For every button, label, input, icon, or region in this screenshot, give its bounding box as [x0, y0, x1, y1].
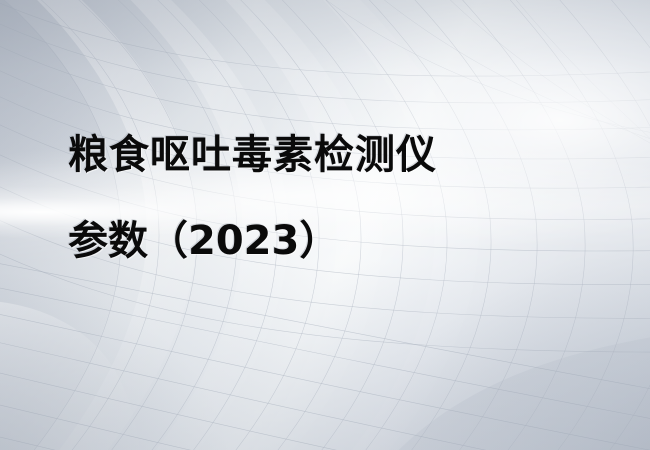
banner-image: 粮食呕吐毒素检测仪 参数（2023）	[0, 0, 650, 450]
title-block: 粮食呕吐毒素检测仪 参数（2023）	[68, 112, 588, 284]
title-line-2: 参数（2023）	[68, 198, 588, 284]
title-line-1: 粮食呕吐毒素检测仪	[68, 112, 588, 198]
